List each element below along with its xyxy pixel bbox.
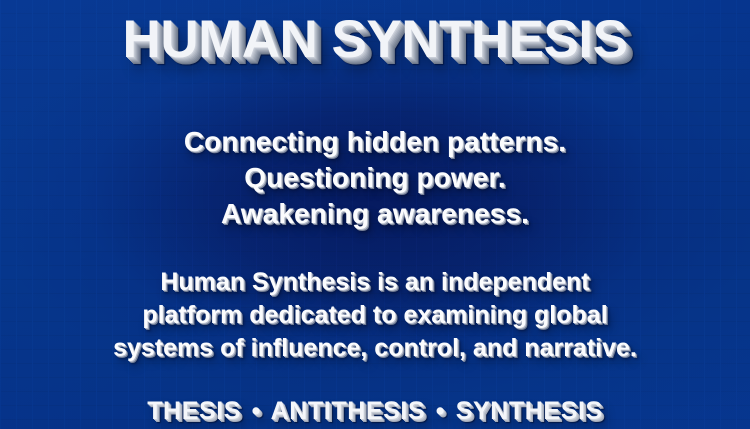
banner-content: HUMAN SYNTHESIS Connecting hidden patter… xyxy=(0,0,750,429)
subheadline-line-2: Questioning power. xyxy=(184,160,566,196)
bullet-separator-icon-2: • xyxy=(433,397,448,425)
description-line-2: platform dedicated to examining global xyxy=(113,299,637,332)
motto-word-synthesis: SYNTHESIS xyxy=(456,397,603,425)
banner-graphic: HUMAN SYNTHESIS Connecting hidden patter… xyxy=(0,0,750,429)
bullet-separator-icon: • xyxy=(249,397,264,425)
motto-word-thesis: THESIS xyxy=(147,397,241,425)
subheadline-line-3: Awakening awareness. xyxy=(184,196,566,232)
motto-line: THESIS • ANTITHESIS • SYNTHESIS xyxy=(147,399,603,424)
headline-title: HUMAN SYNTHESIS xyxy=(123,13,628,66)
description-paragraph: Human Synthesis is an independent platfo… xyxy=(113,266,637,366)
subheadline-block: Connecting hidden patterns. Questioning … xyxy=(184,124,566,233)
subheadline-line-1: Connecting hidden patterns. xyxy=(184,124,566,160)
description-line-1: Human Synthesis is an independent xyxy=(113,266,637,299)
description-line-3: systems of influence, control, and narra… xyxy=(113,332,637,365)
motto-word-antithesis: ANTITHESIS xyxy=(271,397,426,425)
